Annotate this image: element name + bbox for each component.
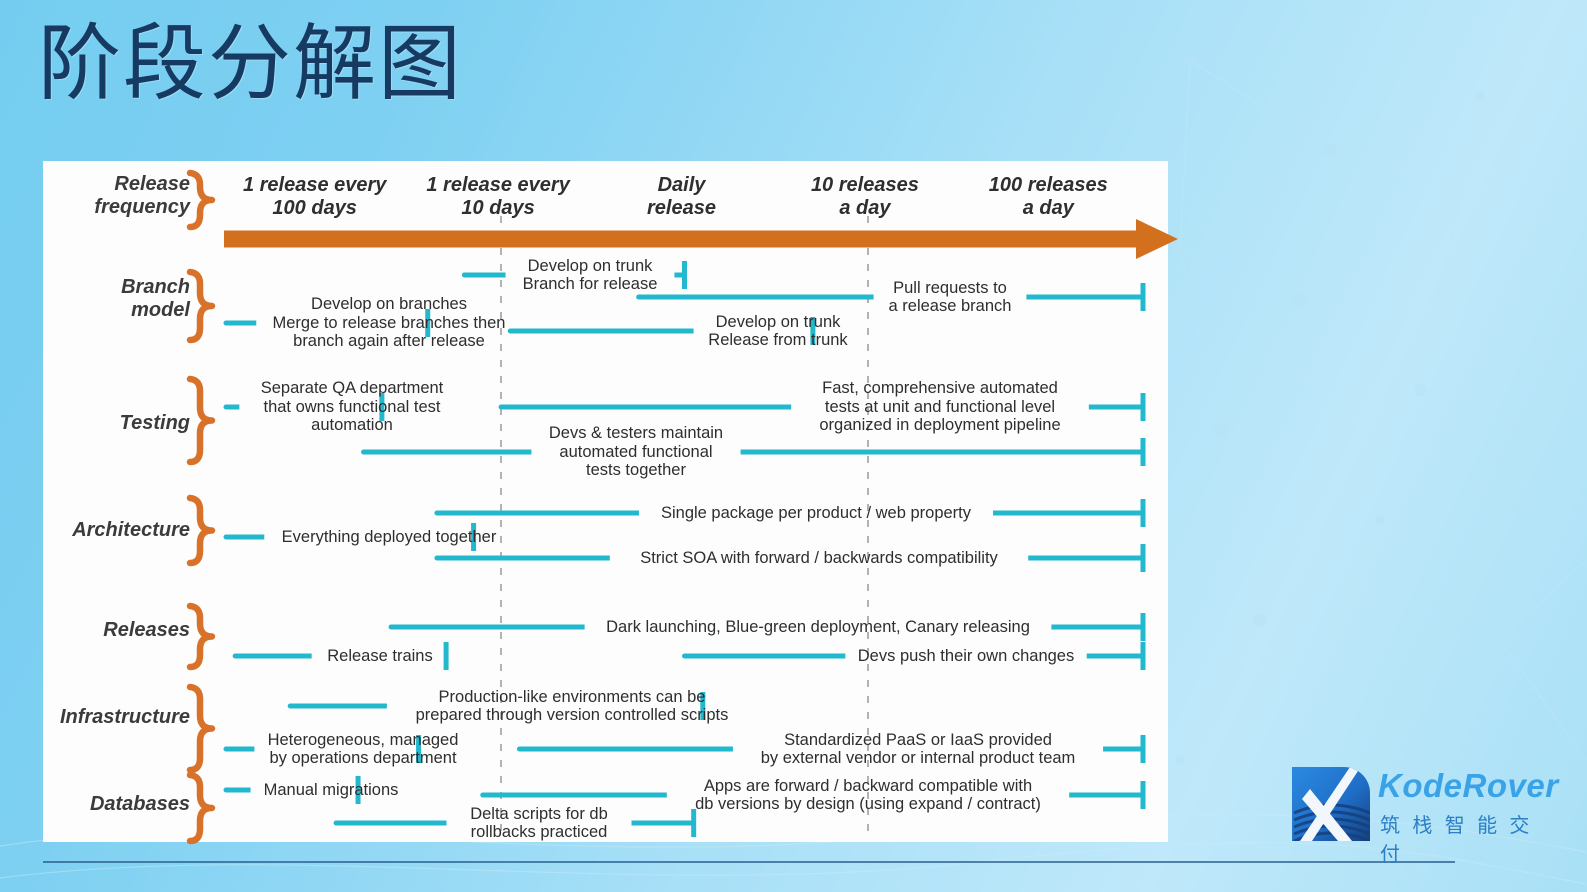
item-caption: Develop on trunk Release from trunk: [548, 313, 1008, 350]
item-caption: Strict SOA with forward / backwards comp…: [589, 549, 1049, 568]
logo-tagline: 筑 栈 智 能 交 付: [1380, 809, 1555, 867]
item-caption: Single package per product / web propert…: [586, 504, 1046, 523]
item-caption: Production-like environments can be prep…: [342, 688, 802, 725]
brand-logo: KodeRover 筑 栈 智 能 交 付: [1290, 763, 1555, 845]
logo-wordmark: KodeRover: [1378, 767, 1559, 805]
item-caption: Pull requests to a release branch: [720, 279, 1180, 316]
item-caption: Delta scripts for db rollbacks practiced: [309, 805, 769, 842]
item-caption: Standardized PaaS or IaaS provided by ex…: [688, 731, 1148, 768]
item-caption: Release trains: [150, 647, 610, 666]
item-caption: Everything deployed together: [159, 528, 619, 547]
row-label-0: Release frequency: [50, 173, 190, 219]
item-caption: Devs push their own changes: [736, 647, 1196, 666]
item-caption: Manual migrations: [101, 781, 561, 800]
row-label-4: Releases: [50, 619, 190, 642]
item-caption: Dark launching, Blue-green deployment, C…: [588, 618, 1048, 637]
footer-divider: [43, 861, 1455, 863]
item-caption: Devs & testers maintain automated functi…: [406, 424, 866, 480]
item-caption: Heterogeneous, managed by operations dep…: [133, 731, 593, 768]
column-header-4: 100 releases a day: [938, 174, 1158, 220]
row-label-5: Infrastructure: [50, 706, 190, 729]
